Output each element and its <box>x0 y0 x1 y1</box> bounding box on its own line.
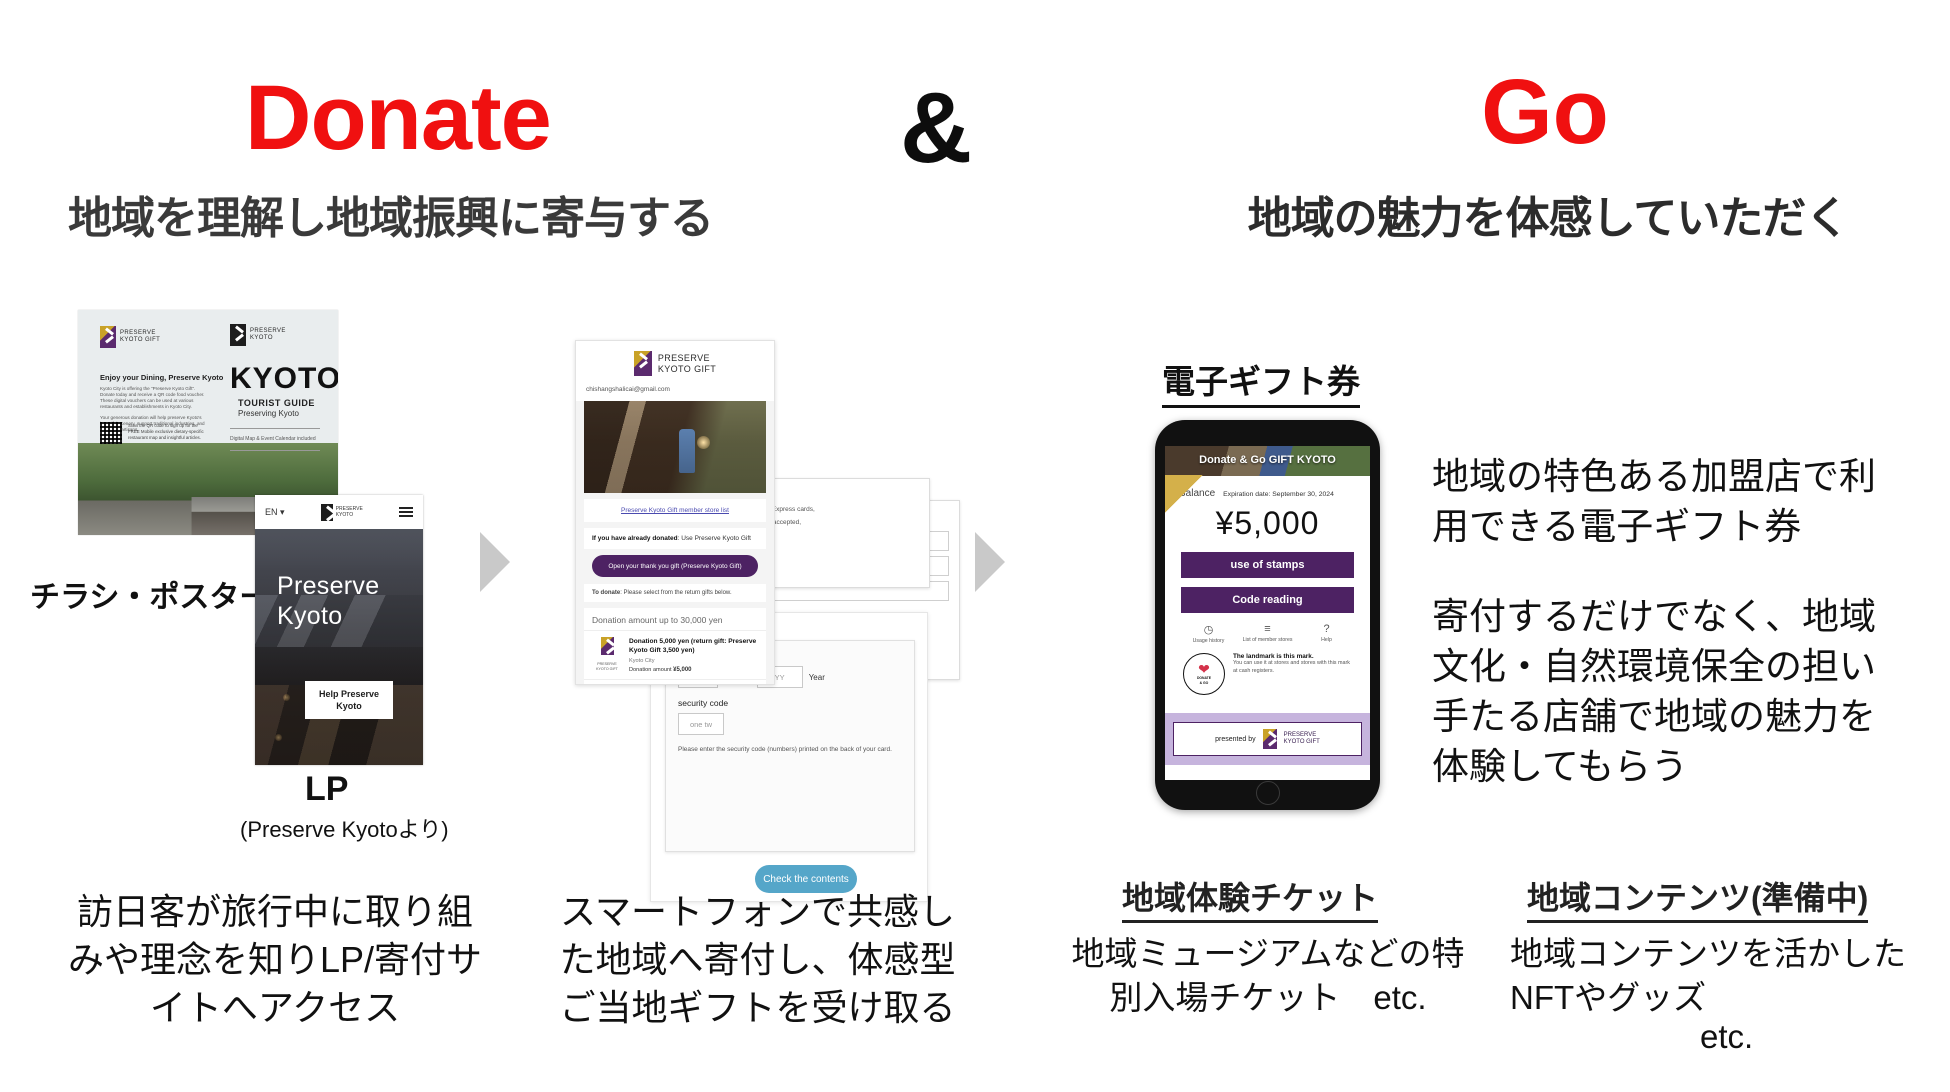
label-flyer-poster: チラシ・ポスター <box>30 572 269 616</box>
flyer-logo-right: PRESERVE KYOTO <box>230 324 286 346</box>
label-lp-sub: (Preserve Kyotoより) <box>240 812 449 844</box>
clock-icon: ◷ <box>1181 623 1237 636</box>
lp-lantern-glow-2 <box>275 734 282 741</box>
usage-history-action[interactable]: ◷ Usage history <box>1181 623 1237 645</box>
flow-arrow-1-icon <box>480 532 510 592</box>
phone-header-title: Donate & Go GIFT KYOTO <box>1165 454 1370 466</box>
preserve-kyoto-logo-icon <box>321 504 333 521</box>
subtitle-donate: 地域を理解し地域振興に寄与する <box>68 182 858 246</box>
headline-go: Go <box>1415 66 1675 158</box>
local-content-etc: etc. <box>1700 1018 1753 1056</box>
preserve-kyoto-logo-icon <box>230 324 246 346</box>
donate-and-go-seal-icon: ❤ DONATE & GO <box>1183 653 1225 695</box>
flyer-para-1: Kyoto City is offering the "Preserve Kyo… <box>100 386 208 410</box>
use-of-stamps-button[interactable]: use of stamps <box>1181 552 1354 578</box>
flyer-divider-top <box>230 428 320 429</box>
lp-screenshot: EN ▾ PRESERVE KYOTO Preserve Kyoto Help … <box>255 495 423 765</box>
presented-by-box: presented by PRESERVE KYOTO GIFT <box>1173 722 1362 756</box>
qr-code-icon <box>100 422 122 444</box>
seal-line2: & GO <box>1200 681 1209 685</box>
option-amount: Donation amount ¥5,000 <box>629 667 758 673</box>
already-donated-note: If you have already donated: Use Preserv… <box>584 528 766 549</box>
lp-hero-image: Preserve Kyoto Help Preserve Kyoto <box>255 529 423 765</box>
option-logo: PRESERVE KYOTO GIFT <box>592 637 622 673</box>
mail-hero-photo <box>584 401 766 493</box>
flyer-tourist-guide: TOURIST GUIDE <box>238 398 315 408</box>
option-logo-line1: PRESERVE <box>597 662 617 666</box>
donation-amount-heading: Donation amount up to 30,000 yen <box>584 608 766 630</box>
help-action[interactable]: ? Help <box>1299 623 1355 645</box>
hamburger-menu-icon[interactable] <box>399 504 413 519</box>
list-icon: ≡ <box>1240 623 1296 635</box>
caption-step-2: スマートフォンで共感した地域へ寄付し、体感型ご当地ギフトを受け取る <box>545 888 970 1032</box>
flyer-logo-left-line1: PRESERVE <box>120 330 156 336</box>
to-donate-bold: To donate <box>592 590 620 596</box>
slide-canvas: Donate 地域を理解し地域振興に寄与する & Go 地域の魅力を体感していた… <box>0 0 1950 1092</box>
description-experience: 寄付するだけでなく、地域文化・自然環境保全の担い手たる店舗で地域の魅力を体験して… <box>1432 592 1902 792</box>
mail-logo-line1: PRESERVE <box>658 353 710 363</box>
member-stores-label: List of member stores <box>1240 637 1296 644</box>
heading-experience-ticket: 地域体験チケット <box>1122 873 1378 923</box>
donation-option-row[interactable]: PRESERVE KYOTO GIFT Donation 5,000 yen (… <box>584 630 766 679</box>
phone-hero-banner: Donate & Go GIFT KYOTO <box>1165 446 1370 476</box>
heading-local-content: 地域コンテンツ(準備中) <box>1527 873 1868 923</box>
lp-logo-line2: KYOTO <box>336 512 353 518</box>
quick-action-icons: ◷ Usage history ≡ List of member stores … <box>1179 623 1356 645</box>
gift-card-body: Balance Expiration date: September 30, 2… <box>1165 476 1370 713</box>
usage-history-label: Usage history <box>1181 638 1237 645</box>
expiration-date: Expiration date: September 30, 2024 <box>1223 491 1334 498</box>
option-city: Kyoto City <box>629 658 758 664</box>
body-experience-ticket: 地域ミュージアムなどの特別入場チケット etc. <box>1068 932 1468 1020</box>
flyer-logo-left-line2: KYOTO GIFT <box>120 337 160 343</box>
landmark-body: You can use it at stores and stores with… <box>1233 660 1350 673</box>
flyer-divider-bottom <box>230 450 320 451</box>
already-donated-bold: If you have already donated <box>592 535 678 542</box>
expiry-year-unit: Year <box>809 673 825 682</box>
already-donated-rest: : Use Preserve Kyoto Gift <box>678 535 751 542</box>
mail-logo: PRESERVE KYOTO GIFT <box>576 341 774 384</box>
code-reading-button[interactable]: Code reading <box>1181 587 1354 613</box>
help-label: Help <box>1299 637 1355 644</box>
flow-arrow-2-icon <box>975 532 1005 592</box>
member-store-list-link[interactable]: Preserve Kyoto Gift member store list <box>584 499 766 522</box>
subtitle-go: 地域の魅力を体感していただく <box>1178 182 1918 246</box>
flyer-logo-right-line2: KYOTO <box>250 335 273 341</box>
to-donate-rest: : Please select from the return gifts be… <box>620 590 731 596</box>
lp-topbar: EN ▾ PRESERVE KYOTO <box>255 495 423 529</box>
lp-hero-title: Preserve Kyoto <box>277 571 379 631</box>
presented-by-label: presented by <box>1215 736 1255 743</box>
preserve-kyoto-gift-logo-icon <box>100 326 116 348</box>
security-code-input[interactable]: one tw <box>678 713 724 735</box>
donation-email-screenshot: PRESERVE KYOTO GIFT chishangshalicai@gma… <box>575 340 775 685</box>
security-code-label: security code <box>678 698 902 708</box>
footer-logo-line1: PRESERVE <box>1284 732 1317 738</box>
donation-option-row[interactable]: PRESERVE KYOTO GIFT Donation 10,000 yen … <box>584 679 766 685</box>
mail-recipient-email: chishangshalicai@gmail.com <box>576 384 774 401</box>
gift-app-phone-mockup: Donate & Go GIFT KYOTO Balance Expiratio… <box>1155 420 1380 810</box>
option-amount-value: ¥5,000 <box>673 667 691 673</box>
preserve-kyoto-gift-logo-icon <box>1263 729 1277 749</box>
lp-hero-title-line2: Kyoto <box>277 602 342 630</box>
description-egift: 地域の特色ある加盟店で利用できる電子ギフト券 <box>1432 452 1902 552</box>
footer-logo-line2: KYOTO GIFT <box>1284 739 1320 745</box>
flyer-qr-note: Scan the QR code to sign up for the FREE… <box>128 423 210 441</box>
help-icon: ? <box>1299 623 1355 635</box>
preserve-kyoto-gift-logo-icon <box>634 351 652 376</box>
lp-hero-title-line1: Preserve <box>277 572 379 600</box>
landmark-text: The landmark is this mark. You can use i… <box>1233 653 1352 675</box>
landmark-bold: The landmark is this mark. <box>1233 653 1352 660</box>
flyer-logo-left: PRESERVE KYOTO GIFT <box>100 326 160 348</box>
lp-logo: PRESERVE KYOTO <box>321 504 363 521</box>
label-lp: LP <box>305 770 348 809</box>
flyer-kyoto-title: KYOTO <box>230 362 338 396</box>
member-stores-action[interactable]: ≡ List of member stores <box>1240 623 1296 645</box>
preserve-kyoto-gift-logo-icon <box>601 637 614 655</box>
flyer-preserving: Preserving Kyoto <box>238 409 299 418</box>
gold-corner-ribbon-icon <box>1165 475 1210 521</box>
security-row: one tw <box>678 713 902 735</box>
security-code-note: Please enter the security code (numbers)… <box>678 745 902 754</box>
headline-donate: Donate <box>245 72 865 164</box>
landmark-section: ❤ DONATE & GO The landmark is this mark.… <box>1175 653 1360 703</box>
heart-icon: ❤ <box>1198 663 1210 676</box>
lp-cta-button[interactable]: Help Preserve Kyoto <box>305 681 393 719</box>
phone-footer: presented by PRESERVE KYOTO GIFT <box>1165 713 1370 765</box>
lp-language-selector[interactable]: EN ▾ <box>265 507 285 518</box>
label-egift: 電子ギフト券 <box>1162 355 1360 408</box>
lp-lantern-glow-1 <box>283 694 290 701</box>
body-local-content: 地域コンテンツを活かしたNFTやグッズ <box>1510 932 1930 1020</box>
caption-step-1: 訪日客が旅行中に取り組みや理念を知りLP/寄付サイトへアクセス <box>60 888 490 1032</box>
option-amount-label: Donation amount <box>629 667 672 673</box>
flyer-calendar-note: Digital Map & Event Calendar included <box>230 436 316 442</box>
mail-logo-line2: KYOTO GIFT <box>658 364 716 374</box>
option-title: Donation 5,000 yen (return gift: Preserv… <box>629 637 758 655</box>
ampersand-symbol: & <box>900 78 972 178</box>
open-thankyou-gift-button[interactable]: Open your thank you gift (Preserve Kyoto… <box>592 555 758 577</box>
flyer-logo-right-line1: PRESERVE <box>250 328 286 334</box>
to-donate-note: To donate: Please select from the return… <box>584 584 766 602</box>
flyer-heading: Enjoy your Dining, Preserve Kyoto <box>100 373 223 382</box>
phone-screen: Donate & Go GIFT KYOTO Balance Expiratio… <box>1165 446 1370 780</box>
option-logo-line2: KYOTO GIFT <box>596 667 618 671</box>
